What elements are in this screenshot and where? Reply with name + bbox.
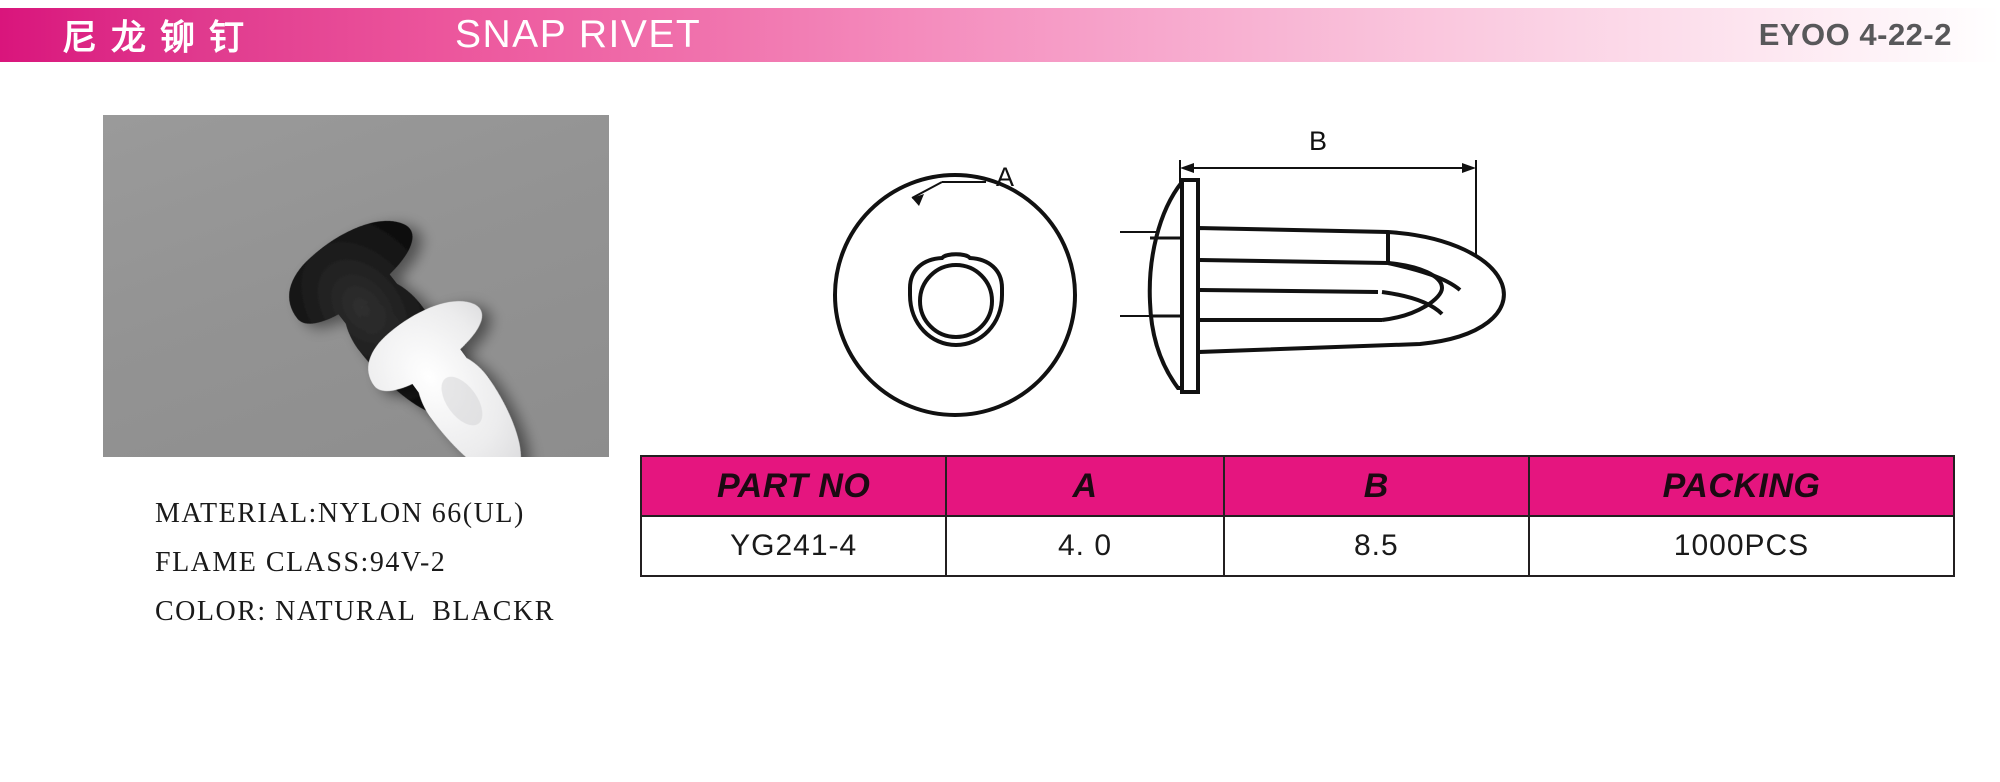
specification-table: PART NO A B PACKING YG241-4 4. 0 8.5 100…	[640, 455, 1955, 577]
material-spec-list: MATERIAL:NYLON 66(UL) FLAME CLASS:94V-2 …	[155, 498, 715, 645]
cell-a: 4. 0	[946, 516, 1223, 576]
table-header-b: B	[1224, 456, 1529, 516]
header-product-code: EYOO 4-22-2	[1759, 17, 1952, 53]
cell-packing: 1000PCS	[1529, 516, 1954, 576]
spec-line-color: COLOR: NATURAL BLACKR	[155, 596, 715, 628]
table-header-a: A	[946, 456, 1223, 516]
b-arrow-left	[1180, 163, 1194, 173]
spec-line-material: MATERIAL:NYLON 66(UL)	[155, 498, 715, 530]
side-view-head-web	[1182, 180, 1198, 392]
front-view-drawing: A	[790, 120, 1120, 450]
header-english-title: SNAP RIVET	[455, 13, 701, 57]
front-view-label-a: A	[996, 162, 1014, 192]
spec-line-flame-class: FLAME CLASS:94V-2	[155, 547, 715, 579]
side-view-drawing: B 3. 2	[1120, 120, 1820, 450]
cell-part-no: YG241-4	[641, 516, 946, 576]
technical-drawing-area: A B 3. 2	[790, 120, 1970, 450]
table-header-part-no: PART NO	[641, 456, 946, 516]
product-photo-image	[103, 115, 609, 457]
b-arrow-right	[1462, 163, 1476, 173]
table-header-packing: PACKING	[1529, 456, 1954, 516]
product-photo	[103, 115, 609, 457]
table-row: YG241-4 4. 0 8.5 1000PCS	[641, 516, 1954, 576]
header-banner: 尼龙铆钉 SNAP RIVET EYOO 4-22-2	[0, 8, 2000, 62]
table-header-row: PART NO A B PACKING	[641, 456, 1954, 516]
header-chinese-title: 尼龙铆钉	[62, 10, 258, 61]
cell-b: 8.5	[1224, 516, 1529, 576]
side-view-rib-2	[1200, 290, 1378, 292]
b-dimension-label: B	[1309, 126, 1327, 156]
front-view-bore-circle	[920, 265, 992, 337]
